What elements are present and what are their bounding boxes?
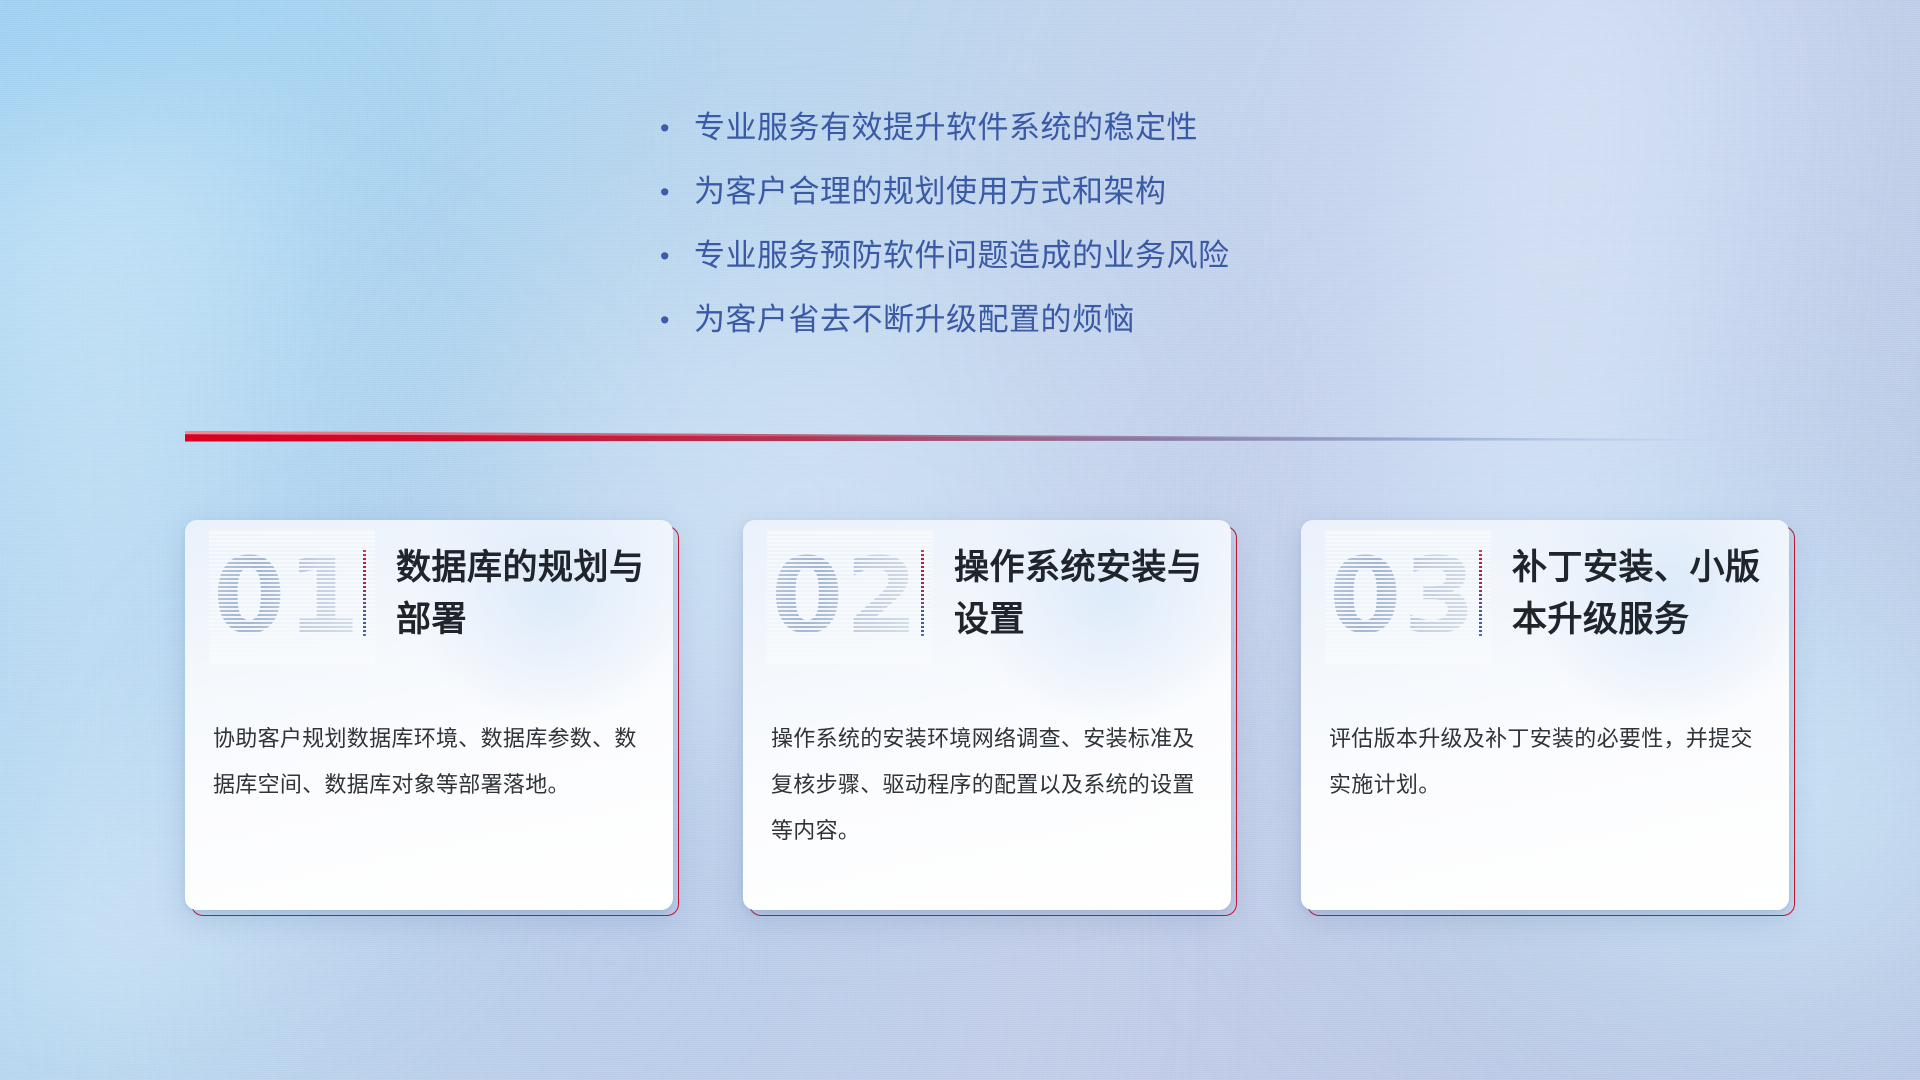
card-header: 03 补丁安装、小版本升级服务 xyxy=(1329,542,1765,674)
service-card[interactable]: 01 数据库的规划与部署 协助客户规划数据库环境、数据库参数、数据库空间、数据库… xyxy=(185,520,679,916)
bullet-dot-icon: • xyxy=(660,224,694,288)
section-divider-ribbon xyxy=(185,428,1745,450)
card-body: 02 操作系统安装与设置 操作系统的安装环境网络调查、安装标准及复核步骤、驱动程… xyxy=(743,520,1231,910)
service-card[interactable]: 02 操作系统安装与设置 操作系统的安装环境网络调查、安装标准及复核步骤、驱动程… xyxy=(743,520,1237,916)
card-header: 01 数据库的规划与部署 xyxy=(213,542,649,674)
card-body: 03 补丁安装、小版本升级服务 评估版本升级及补丁安装的必要性，并提交实施计划。 xyxy=(1301,520,1789,910)
card-body: 01 数据库的规划与部署 协助客户规划数据库环境、数据库参数、数据库空间、数据库… xyxy=(185,520,673,910)
service-cards-row: 01 数据库的规划与部署 协助客户规划数据库环境、数据库参数、数据库空间、数据库… xyxy=(185,520,1795,922)
bullet-text: 为客户省去不断升级配置的烦恼 xyxy=(694,288,1135,352)
card-description: 操作系统的安装环境网络调查、安装标准及复核步骤、驱动程序的配置以及系统的设置等内… xyxy=(771,716,1203,854)
bullet-text: 为客户合理的规划使用方式和架构 xyxy=(694,160,1167,224)
bullet-dot-icon: • xyxy=(660,288,694,352)
card-title: 补丁安装、小版本升级服务 xyxy=(1512,542,1765,646)
card-number-text: 01 xyxy=(213,532,363,660)
card-title-rule xyxy=(921,548,924,636)
card-number-watermark: 03 xyxy=(1329,542,1479,660)
card-number-text: 02 xyxy=(771,532,921,660)
list-item: • 为客户省去不断升级配置的烦恼 xyxy=(660,288,1560,352)
card-title: 操作系统安装与设置 xyxy=(954,542,1207,646)
list-item: • 为客户合理的规划使用方式和架构 xyxy=(660,160,1560,224)
bullet-text: 专业服务有效提升软件系统的稳定性 xyxy=(694,96,1198,160)
card-header: 02 操作系统安装与设置 xyxy=(771,542,1207,674)
card-number-watermark: 01 xyxy=(213,542,363,660)
card-title-rule xyxy=(1479,548,1482,636)
list-item: • 专业服务有效提升软件系统的稳定性 xyxy=(660,96,1560,160)
card-number-watermark: 02 xyxy=(771,542,921,660)
bullet-text: 专业服务预防软件问题造成的业务风险 xyxy=(694,224,1230,288)
service-card[interactable]: 03 补丁安装、小版本升级服务 评估版本升级及补丁安装的必要性，并提交实施计划。 xyxy=(1301,520,1795,916)
benefits-bullet-list: • 专业服务有效提升软件系统的稳定性 • 为客户合理的规划使用方式和架构 • 专… xyxy=(660,96,1560,352)
card-description: 协助客户规划数据库环境、数据库参数、数据库空间、数据库对象等部署落地。 xyxy=(213,716,645,808)
list-item: • 专业服务预防软件问题造成的业务风险 xyxy=(660,224,1560,288)
card-number-text: 03 xyxy=(1329,532,1479,660)
card-title: 数据库的规划与部署 xyxy=(396,542,649,646)
bullet-dot-icon: • xyxy=(660,160,694,224)
card-title-rule xyxy=(363,548,366,636)
bullet-dot-icon: • xyxy=(660,96,694,160)
card-description: 评估版本升级及补丁安装的必要性，并提交实施计划。 xyxy=(1329,716,1761,808)
